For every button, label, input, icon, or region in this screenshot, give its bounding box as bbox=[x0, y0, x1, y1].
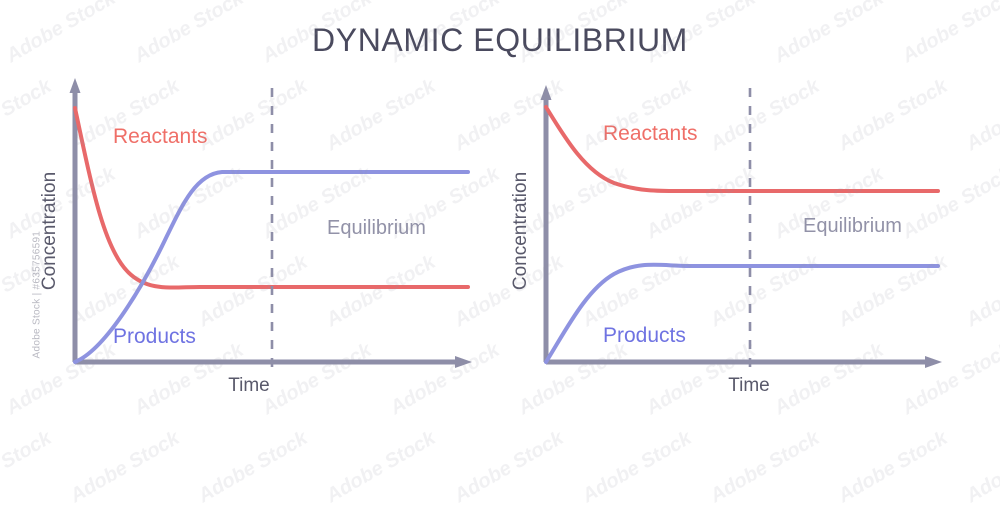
watermark-text: Adobe Stock bbox=[450, 427, 567, 508]
watermark-text: Adobe Stock bbox=[706, 427, 823, 508]
left-y-axis-arrow-icon bbox=[70, 78, 81, 93]
chart-right: Reactants Products Equilibrium Time Conc… bbox=[510, 85, 942, 396]
right-x-axis-arrow-icon bbox=[925, 356, 942, 368]
right-products-curve bbox=[546, 265, 938, 362]
right-products-label: Products bbox=[603, 324, 686, 347]
right-y-axis-label: Concentration bbox=[510, 172, 531, 290]
watermark-text: Adobe Stock bbox=[322, 427, 439, 508]
right-equilibrium-label: Equilibrium bbox=[803, 215, 902, 237]
diagram-canvas: DYNAMIC EQUILIBRIUM Reactants Products E… bbox=[0, 0, 1000, 416]
right-reactants-label: Reactants bbox=[603, 122, 698, 145]
watermark-text: Adobe Stock bbox=[66, 427, 183, 508]
left-x-axis-label: Time bbox=[228, 375, 270, 396]
watermark-text: Adobe Stock bbox=[0, 427, 56, 508]
left-equilibrium-label: Equilibrium bbox=[327, 217, 426, 239]
chart-left: Reactants Products Equilibrium Time Conc… bbox=[39, 78, 472, 396]
watermark-text: Adobe Stock bbox=[194, 427, 311, 508]
left-reactants-label: Reactants bbox=[113, 125, 208, 148]
watermark-text: Adobe Stock bbox=[578, 427, 695, 508]
watermark-text: Adobe Stock bbox=[834, 427, 951, 508]
left-products-label: Products bbox=[113, 325, 196, 348]
watermark-text: Adobe Stock bbox=[962, 427, 1000, 508]
charts-svg: Reactants Products Equilibrium Time Conc… bbox=[0, 0, 1000, 416]
right-y-axis-arrow-icon bbox=[541, 85, 552, 100]
right-x-axis-label: Time bbox=[728, 375, 770, 396]
right-reactants-curve bbox=[546, 107, 938, 191]
stock-attribution: Adobe Stock | #635756591 bbox=[32, 189, 43, 359]
left-x-axis-arrow-icon bbox=[455, 356, 472, 368]
